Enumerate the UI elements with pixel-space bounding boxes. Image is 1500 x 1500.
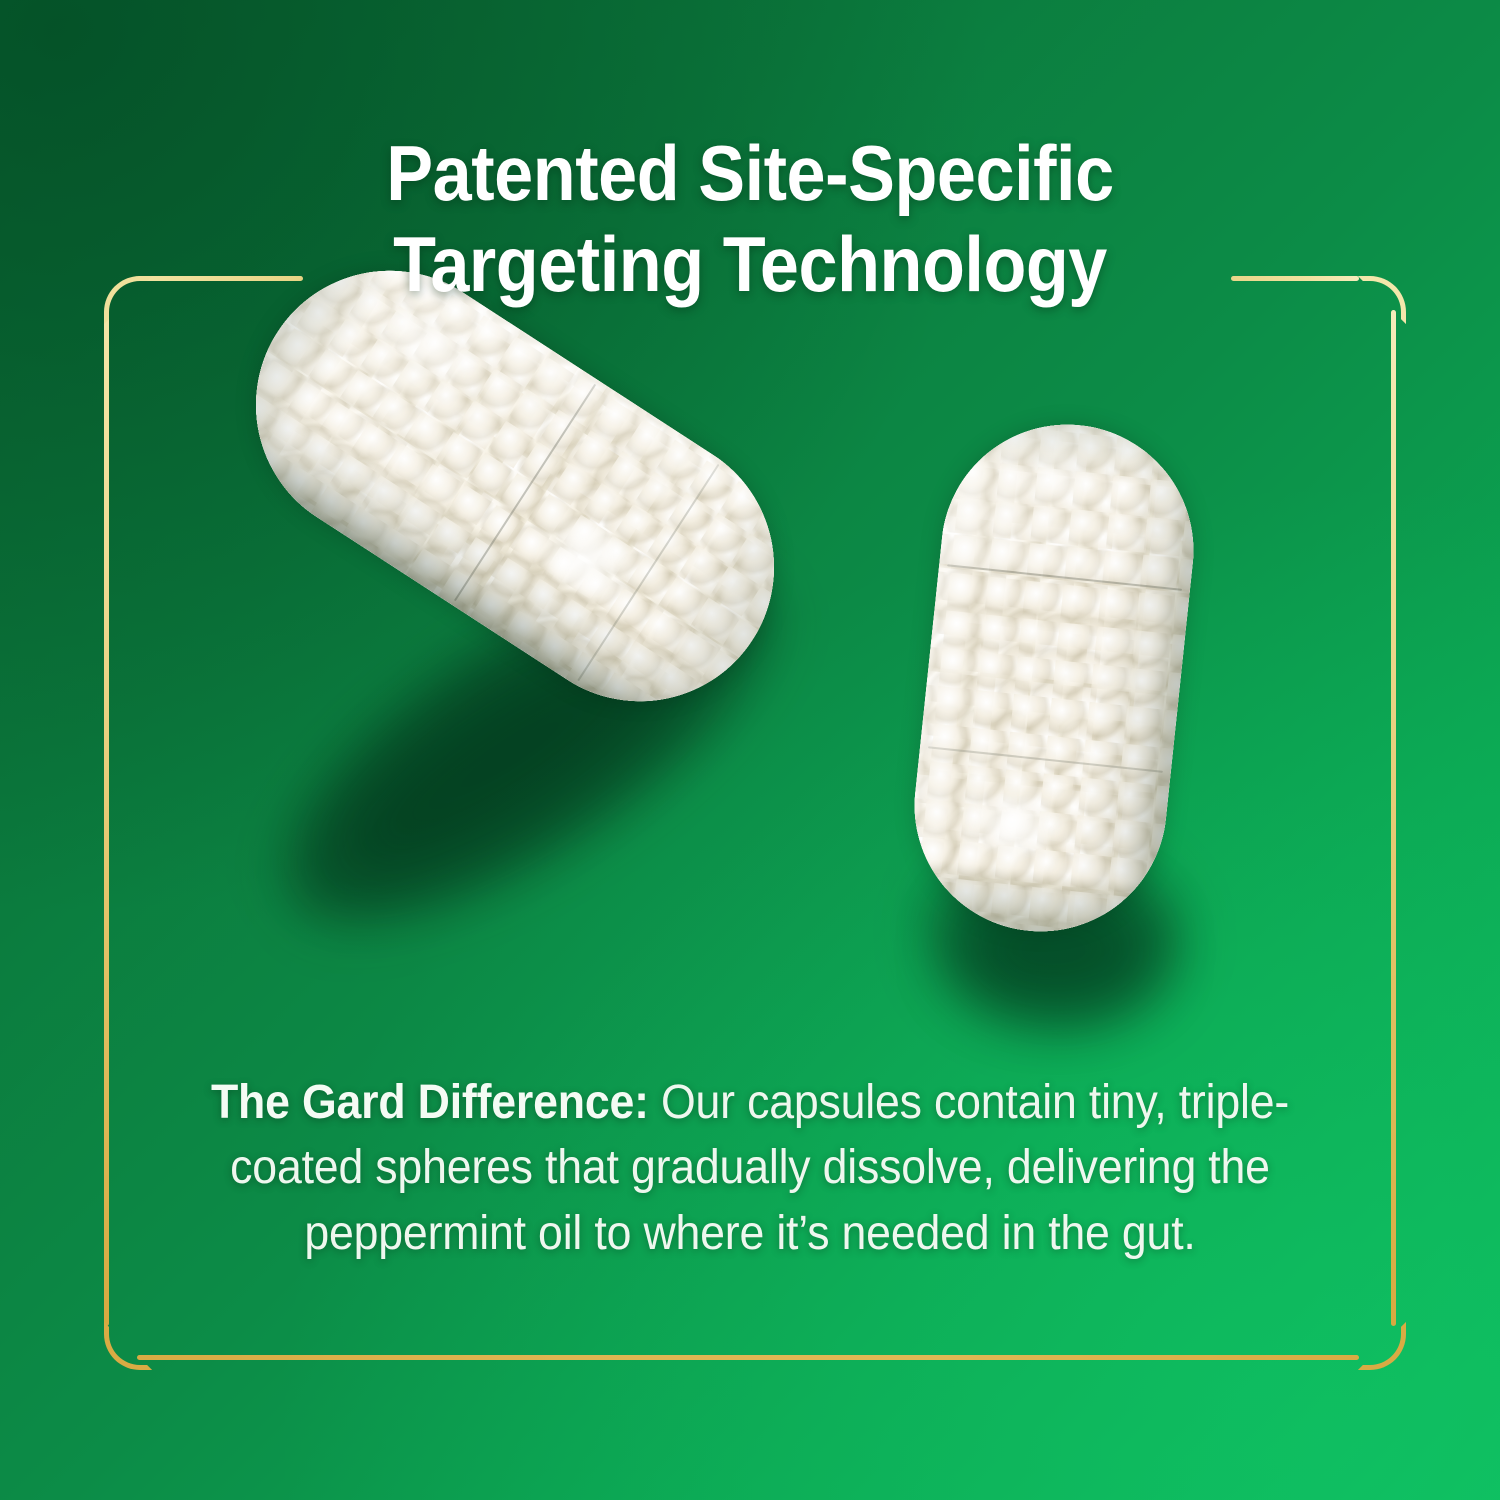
capsule-small [902, 412, 1206, 944]
headline-line-2: Targeting Technology [75, 219, 1425, 310]
capsule-small-pellets [902, 412, 1206, 944]
marketing-infographic: Patented Site-Specific Targeting Technol… [0, 0, 1500, 1500]
body-copy: The Gard Difference: Our capsules contai… [192, 1070, 1308, 1266]
frame-corner-bottom-left [104, 1322, 152, 1370]
headline-line-1: Patented Site-Specific [75, 128, 1425, 219]
frame-bottom-segment [137, 1355, 1359, 1360]
frame-left-segment [104, 310, 109, 1326]
body-copy-lead: The Gard Difference: [211, 1076, 649, 1129]
headline: Patented Site-Specific Targeting Technol… [75, 128, 1425, 311]
frame-right-segment [1391, 310, 1396, 1326]
frame-corner-bottom-right [1358, 1322, 1406, 1370]
